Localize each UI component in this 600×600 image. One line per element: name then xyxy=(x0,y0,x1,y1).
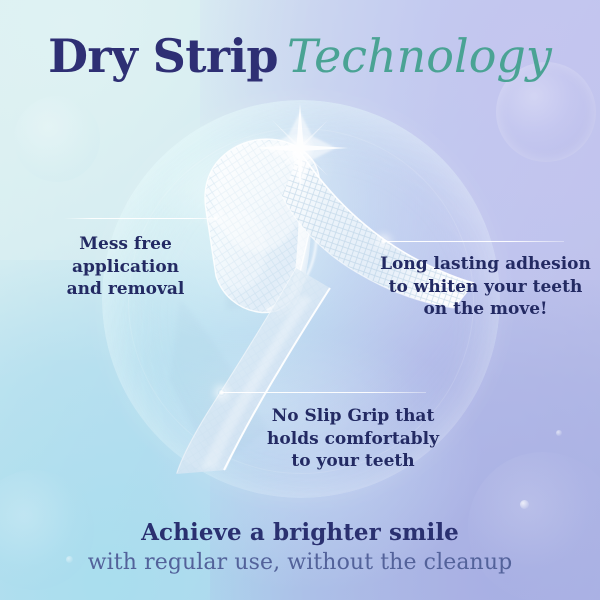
tagline-line1: Achieve a brighter smile xyxy=(0,518,600,547)
leader-dot-icon-mess-free xyxy=(212,215,219,222)
tagline-line2: with regular use, without the cleanup xyxy=(0,549,600,578)
leader-dot-icon-no-slip xyxy=(218,389,225,396)
callout-no-slip-line2: holds comfortably xyxy=(253,428,453,451)
callout-long-lasting-line2: to whiten your teeth xyxy=(378,276,593,299)
leader-line-long-lasting xyxy=(384,241,564,242)
leader-line-mess-free xyxy=(64,218,216,219)
title-bold: Dry Strip xyxy=(48,29,278,83)
callout-long-lasting: Long lasting adhesion to whiten your tee… xyxy=(378,253,593,321)
callout-long-lasting-line1: Long lasting adhesion xyxy=(378,253,593,276)
callout-mess-free: Mess free application and removal xyxy=(33,233,218,301)
callout-long-lasting-line3: on the move! xyxy=(378,298,593,321)
page-title: Dry StripTechnology xyxy=(0,33,600,79)
callout-mess-free-line1: Mess free xyxy=(33,233,218,256)
leader-line-no-slip xyxy=(222,392,426,393)
callout-no-slip-line3: to your teeth xyxy=(253,450,453,473)
callout-mess-free-line3: and removal xyxy=(33,278,218,301)
leader-dot-icon-long-lasting xyxy=(380,238,387,245)
callout-mess-free-line2: application xyxy=(33,256,218,279)
poster-canvas: Dry StripTechnology Mess free applicatio… xyxy=(0,0,600,600)
callout-no-slip-line1: No Slip Grip that xyxy=(253,405,453,428)
title-italic: Technology xyxy=(287,29,552,83)
tagline: Achieve a brighter smile with regular us… xyxy=(0,518,600,578)
callout-no-slip-grip: No Slip Grip that holds comfortably to y… xyxy=(253,405,453,473)
